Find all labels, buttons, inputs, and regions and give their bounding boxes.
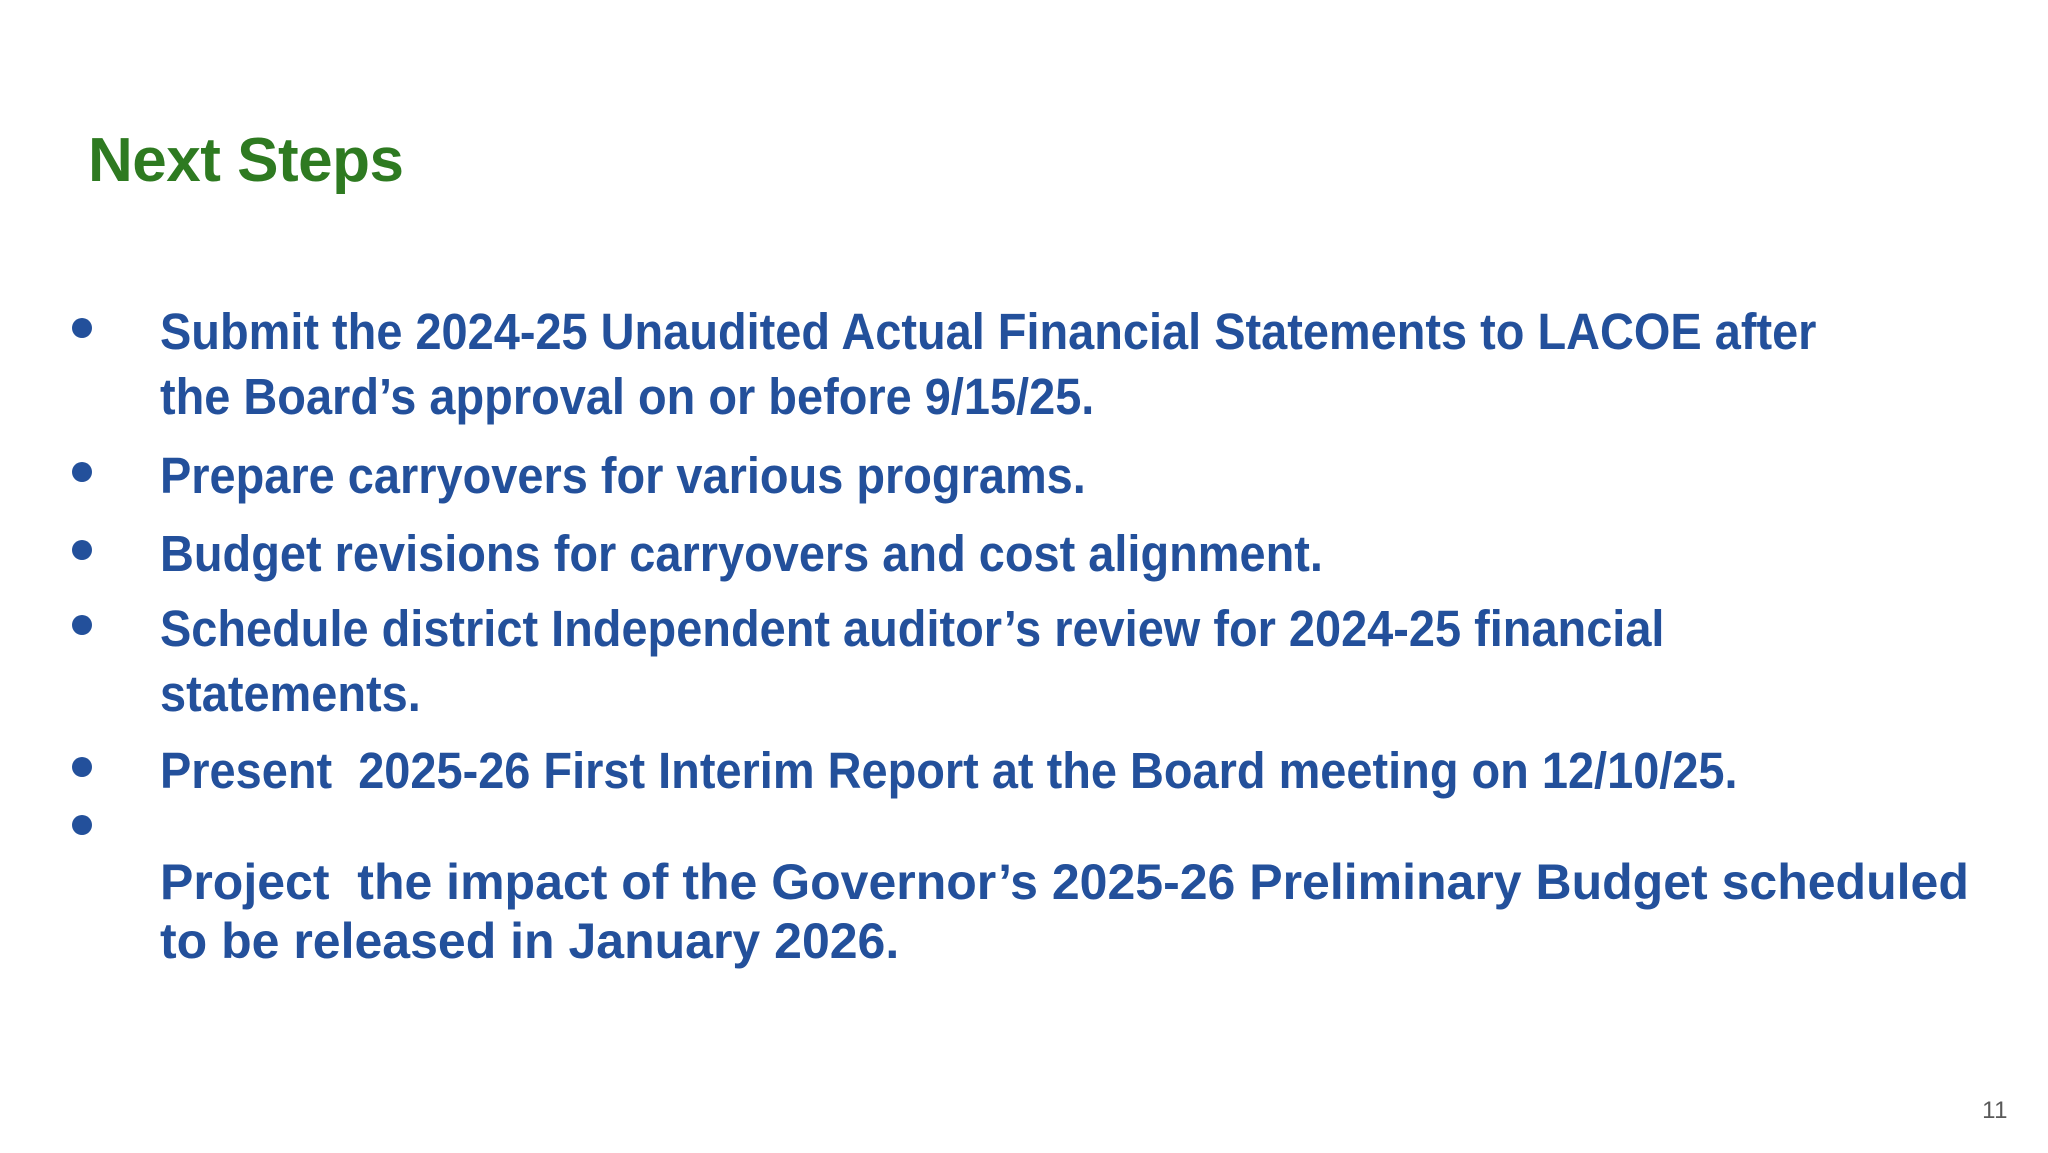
list-item-text: Project the impact of the Governor’s 202… bbox=[160, 811, 2020, 971]
list-item: Submit the 2024-25 Unaudited Actual Fina… bbox=[60, 300, 2020, 430]
list-item-text: Budget revisions for carryovers and cost… bbox=[160, 522, 1871, 587]
list-item-text: Submit the 2024-25 Unaudited Actual Fina… bbox=[160, 300, 1871, 430]
bullet-dot-icon bbox=[60, 444, 160, 482]
list-item-text: Schedule district Independent auditor’s … bbox=[160, 597, 1871, 727]
bullet-dot-icon bbox=[60, 739, 160, 777]
list-item: Project the impact of the Governor’s 202… bbox=[60, 811, 2020, 971]
list-item-text: Present 2025-26 First Interim Report at … bbox=[160, 739, 1871, 804]
bullet-dot-icon bbox=[60, 522, 160, 560]
list-item-text: Prepare carryovers for various programs. bbox=[160, 444, 1871, 509]
list-item: Prepare carryovers for various programs. bbox=[60, 444, 2020, 509]
list-item: Present 2025-26 First Interim Report at … bbox=[60, 739, 2020, 804]
list-item: Budget revisions for carryovers and cost… bbox=[60, 522, 2020, 587]
list-item: Schedule district Independent auditor’s … bbox=[60, 597, 2020, 727]
bullet-dot-icon bbox=[60, 300, 160, 338]
presentation-slide: Next Steps Submit the 2024-25 Unaudited … bbox=[0, 0, 2048, 1153]
page-number: 11 bbox=[1982, 1097, 2008, 1125]
bullet-dot-icon bbox=[60, 811, 160, 835]
bullet-list: Submit the 2024-25 Unaudited Actual Fina… bbox=[60, 300, 2020, 971]
bullet-dot-icon bbox=[60, 597, 160, 635]
page-title: Next Steps bbox=[88, 128, 403, 193]
